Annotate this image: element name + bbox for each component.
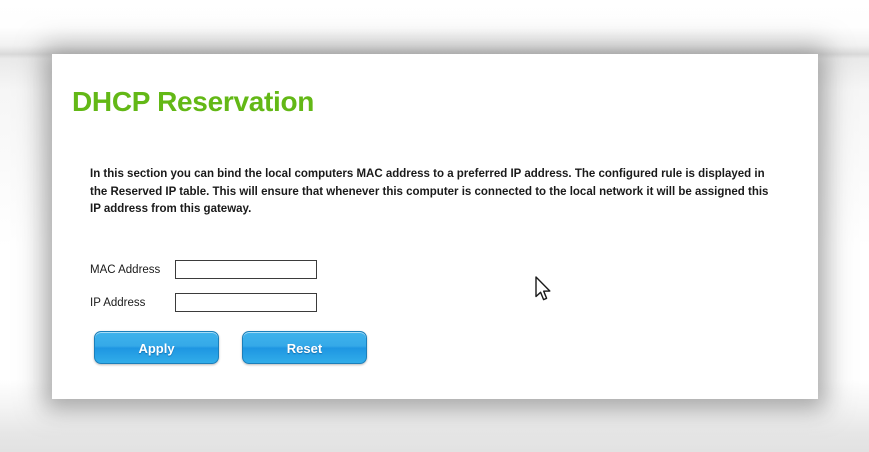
section-description: In this section you can bind the local c… — [90, 166, 778, 219]
card-surface: DHCP Reservation In this section you can… — [52, 54, 818, 399]
reservation-form: MAC Address IP Address — [90, 257, 317, 323]
form-actions: Apply Reset — [94, 331, 367, 364]
ip-address-input[interactable] — [175, 293, 317, 312]
reset-button[interactable]: Reset — [242, 331, 367, 364]
page-title: DHCP Reservation — [72, 86, 314, 118]
apply-button[interactable]: Apply — [94, 331, 219, 364]
dhcp-reservation-card: DHCP Reservation In this section you can… — [52, 54, 818, 399]
mac-address-input[interactable] — [175, 260, 317, 279]
ip-address-label: IP Address — [90, 297, 175, 309]
mac-address-label: MAC Address — [90, 264, 175, 276]
form-row-ip-address: IP Address — [90, 290, 317, 315]
form-row-mac-address: MAC Address — [90, 257, 317, 282]
